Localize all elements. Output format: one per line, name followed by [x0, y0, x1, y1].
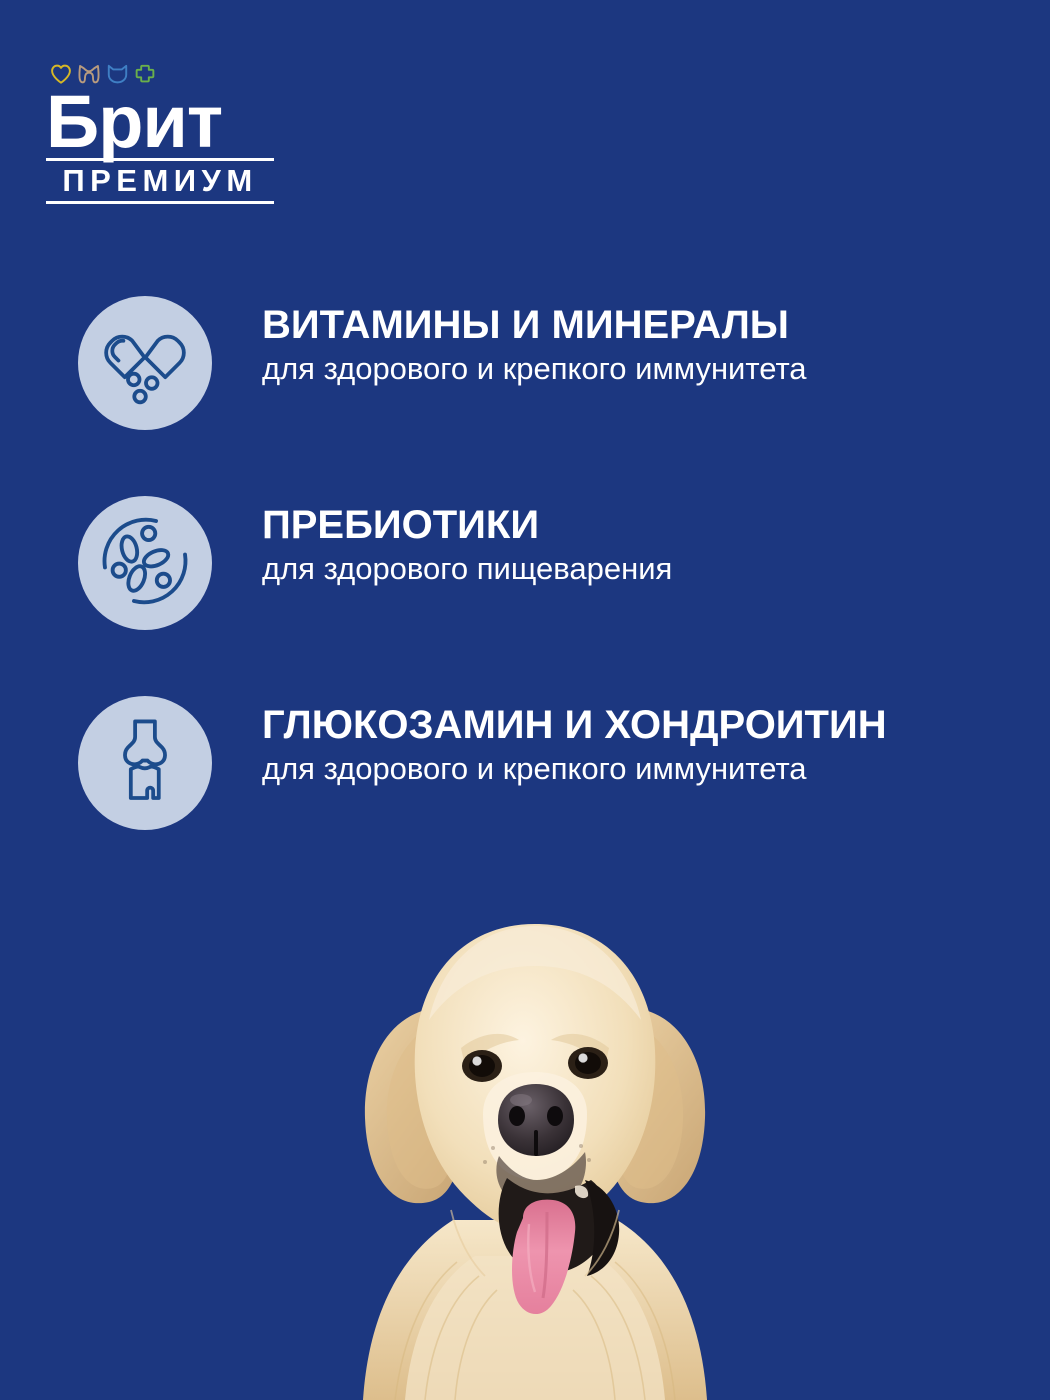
feature-text: ВИТАМИНЫ И МИНЕРАЛЫ для здорового и креп…: [262, 304, 1032, 387]
feature-text: ПРЕБИОТИКИ для здорового пищеварения: [262, 504, 1032, 587]
feature-row: ВИТАМИНЫ И МИНЕРАЛЫ для здорового и креп…: [0, 284, 1050, 484]
feature-title: ВИТАМИНЫ И МИНЕРАЛЫ: [262, 304, 1032, 346]
feature-list: ВИТАМИНЫ И МИНЕРАЛЫ для здорового и креп…: [0, 284, 1050, 884]
knee-joint-bone-icon: [102, 718, 188, 809]
brand-rule-bottom: [46, 201, 274, 204]
golden-retriever-photo: [0, 880, 1050, 1400]
capsule-pill-icon: [100, 316, 190, 411]
golden-retriever-illustration: [285, 880, 785, 1400]
feature-row: ПРЕБИОТИКИ для здорового пищеварения: [0, 484, 1050, 684]
feature-icon-circle: [78, 696, 212, 830]
feature-subtitle: для здорового пищеварения: [262, 552, 1032, 587]
brand-logo: Брит ПРЕМИУМ: [46, 58, 366, 204]
feature-title: ГЛЮКОЗАМИН И ХОНДРОИТИН: [262, 704, 1032, 746]
feature-row: ГЛЮКОЗАМИН И ХОНДРОИТИН для здорового и …: [0, 684, 1050, 884]
feature-text: ГЛЮКОЗАМИН И ХОНДРОИТИН для здорового и …: [262, 704, 1032, 787]
brand-subtitle-wrap: ПРЕМИУМ: [46, 158, 274, 204]
promo-poster: Брит ПРЕМИУМ: [0, 0, 1050, 1400]
feature-title: ПРЕБИОТИКИ: [262, 504, 1032, 546]
feature-icon-circle: [78, 496, 212, 630]
feature-icon-circle: [78, 296, 212, 430]
feature-subtitle: для здорового и крепкого иммунитета: [262, 352, 1032, 387]
probiotic-bacteria-icon: [99, 515, 191, 612]
brand-name: Брит: [46, 88, 366, 156]
feature-subtitle: для здорового и крепкого иммунитета: [262, 752, 1032, 787]
brand-subtitle: ПРЕМИУМ: [46, 161, 274, 201]
